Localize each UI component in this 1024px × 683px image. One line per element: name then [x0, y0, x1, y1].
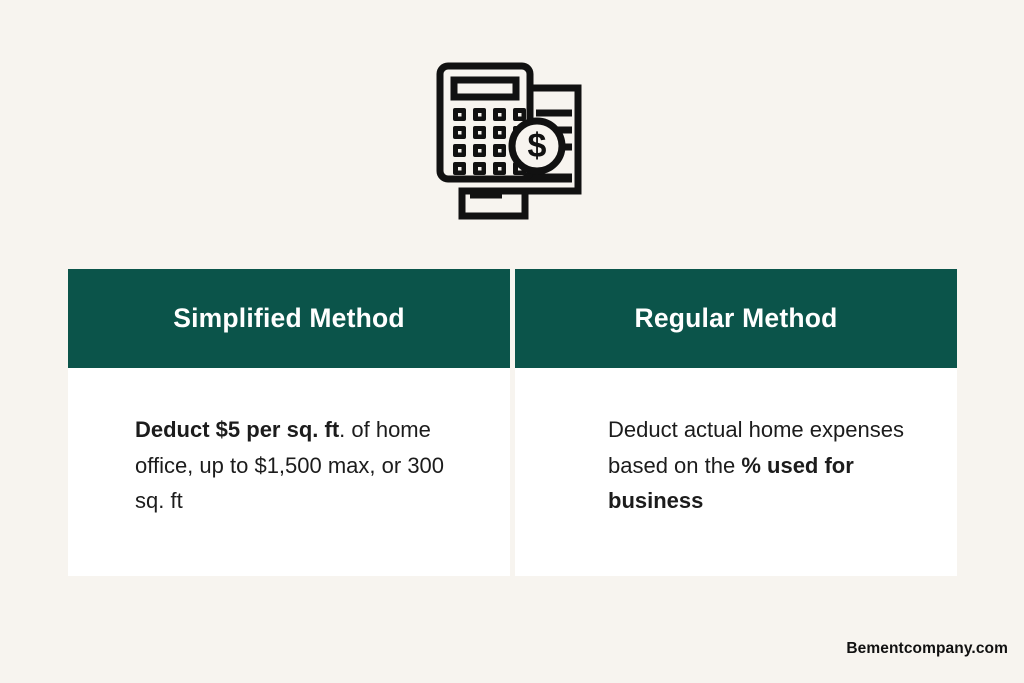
hero-icon-container: $ [0, 58, 1024, 225]
table-column-regular: Regular Method Deduct actual home expens… [515, 269, 957, 576]
column-text-regular: Deduct actual home expenses based on the… [608, 412, 917, 519]
comparison-table: Simplified Method Deduct $5 per sq. ft. … [68, 269, 957, 576]
svg-text:$: $ [528, 127, 547, 165]
calculator-document-dollar-icon: $ [432, 58, 592, 225]
column-header-simplified: Simplified Method [68, 269, 510, 368]
dollar-coin-icon: $ [512, 121, 562, 171]
column-text-simplified: Deduct $5 per sq. ft. of home office, up… [135, 412, 455, 519]
column-body-simplified: Deduct $5 per sq. ft. of home office, up… [68, 368, 510, 576]
column-body-regular: Deduct actual home expenses based on the… [515, 368, 957, 576]
table-column-simplified: Simplified Method Deduct $5 per sq. ft. … [68, 269, 510, 576]
simplified-bold-lead: Deduct $5 per sq. ft [135, 417, 339, 442]
column-header-regular: Regular Method [515, 269, 957, 368]
footer-site-label: Bementcompany.com [846, 640, 1008, 658]
